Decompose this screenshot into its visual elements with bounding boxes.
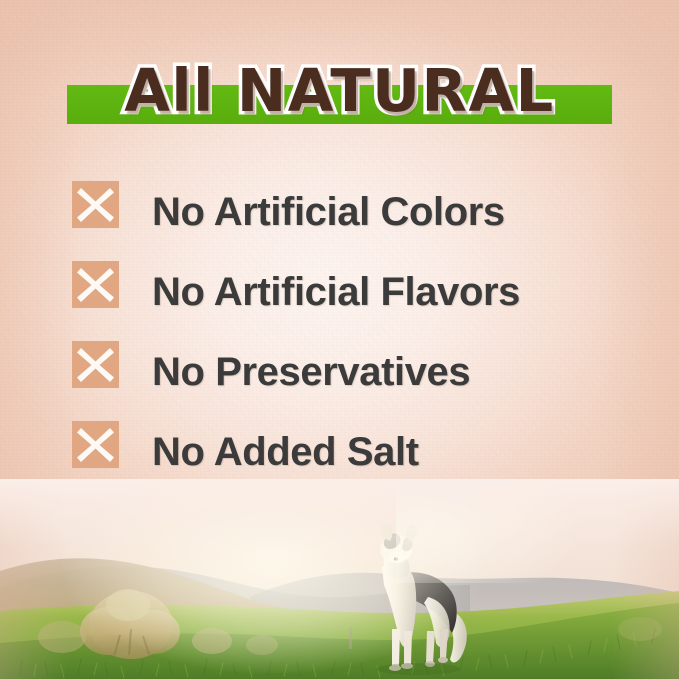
- benefits-list: No Artificial Colors No Artificial Flavo…: [0, 172, 679, 492]
- list-item-label: No Artificial Flavors: [152, 252, 520, 332]
- all-natural-product-poster: All NATURAL No Artificial Colors No Arti…: [0, 0, 679, 679]
- x-mark-icon: [72, 421, 119, 468]
- list-item: No Artificial Colors: [0, 172, 679, 252]
- x-mark-icon: [72, 261, 119, 308]
- x-mark-icon: [72, 341, 119, 388]
- list-item: No Artificial Flavors: [0, 252, 679, 332]
- list-item: No Preservatives: [0, 332, 679, 412]
- x-mark-icon: [72, 181, 119, 228]
- landscape-photo: [0, 479, 679, 679]
- page-title: All NATURAL: [0, 52, 679, 130]
- list-item-label: No Preservatives: [152, 332, 470, 412]
- headline-banner: All NATURAL: [0, 52, 679, 136]
- list-item-label: No Artificial Colors: [152, 172, 505, 252]
